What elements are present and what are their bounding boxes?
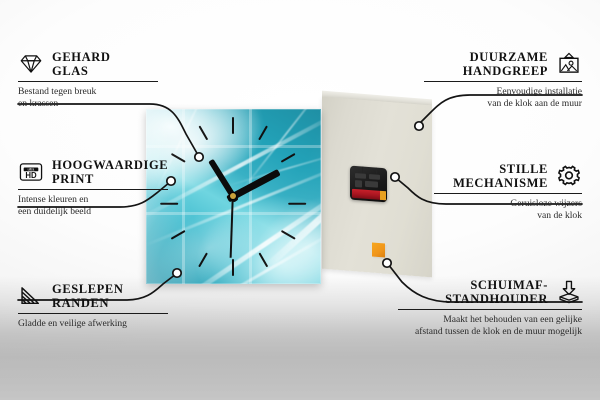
gear-icon [556, 163, 582, 189]
feature-divider [18, 81, 158, 82]
product-infographic: GEHARD GLAS Bestand tegen breuk en krass… [0, 0, 600, 400]
feature-heading: GEHARD GLAS [18, 50, 158, 78]
mechanism-hanger [362, 166, 377, 174]
ultra-hd-icon-bottom-text: HD [25, 171, 37, 180]
clock-tick-10 [171, 153, 186, 163]
clock-tick-5 [258, 252, 268, 267]
mechanism-detail [369, 174, 380, 180]
feature-divider [398, 309, 582, 310]
feature-divider [434, 193, 582, 194]
clock-tick-7 [198, 252, 208, 267]
feature-heading: SCHUIMAF- STANDHOUDER [398, 278, 582, 306]
feature-divider [18, 313, 168, 314]
foam-spacer [372, 243, 385, 258]
clock-hand-cap [230, 193, 236, 199]
clock-tick-6 [232, 259, 234, 276]
feature-title: HOOGWAARDIGE PRINT [52, 158, 168, 186]
print-grid-line [182, 109, 185, 284]
print-grid-line [249, 109, 252, 284]
battery-positive-terminal [380, 191, 386, 200]
feather-streak [258, 170, 321, 276]
clock-tick-4 [281, 230, 296, 240]
clock-tick-3 [288, 203, 306, 205]
feature-heading: GESLEPEN RANDEN [18, 282, 168, 310]
feature-title: GESLEPEN RANDEN [52, 282, 124, 310]
feature-gehard-glas: GEHARD GLAS Bestand tegen breuk en krass… [18, 50, 158, 109]
print-grid-cell [146, 109, 182, 145]
clock-tick-12 [232, 117, 234, 134]
feature-heading: ultra HD HOOGWAARDIGE PRINT [18, 158, 168, 186]
clock-tick-11 [198, 125, 208, 140]
feature-divider [18, 189, 168, 190]
mechanism-detail [355, 173, 366, 179]
feature-geslepen-randen: GESLEPEN RANDEN Gladde en veilige afwerk… [18, 282, 168, 330]
feature-hoogwaardige-print: ultra HD HOOGWAARDIGE PRINT Intense kleu… [18, 158, 168, 217]
print-grid-line [146, 145, 321, 148]
feather-streak [173, 180, 321, 284]
clock-mechanism [350, 166, 387, 203]
feature-heading: STILLE MECHANISME [434, 162, 582, 190]
clock-tick-1 [258, 125, 268, 140]
floor-sheen [0, 342, 600, 400]
feather-streak [226, 149, 321, 187]
mechanism-detail [355, 180, 362, 188]
feature-title: STILLE MECHANISME [453, 162, 548, 190]
feature-schuimafstandhouder: SCHUIMAF- STANDHOUDER Maakt het behouden… [398, 278, 582, 337]
beveled-edge-icon [18, 283, 44, 309]
feature-heading: DUURZAME HANDGREEP [424, 50, 582, 78]
wall-hanging-picture-icon [556, 51, 582, 77]
feature-duurzame-handgreep: DUURZAME HANDGREEP Eenvoudige installati… [424, 50, 582, 109]
clock-tick-2 [281, 153, 296, 163]
feature-title: SCHUIMAF- STANDHOUDER [445, 278, 548, 306]
feature-title: GEHARD GLAS [52, 50, 110, 78]
print-grid-line [146, 212, 321, 215]
diamond-icon [18, 51, 44, 77]
mechanism-detail [365, 181, 378, 188]
feature-title: DUURZAME HANDGREEP [463, 50, 548, 78]
feature-stille-mechanisme: STILLE MECHANISME Geruisloze wijzers van… [434, 162, 582, 221]
clock-glass-face [146, 109, 321, 284]
clock-tick-8 [171, 230, 186, 240]
ultra-hd-icon: ultra HD [18, 159, 44, 185]
foam-spacer-icon [556, 279, 582, 305]
feature-divider [424, 81, 582, 82]
